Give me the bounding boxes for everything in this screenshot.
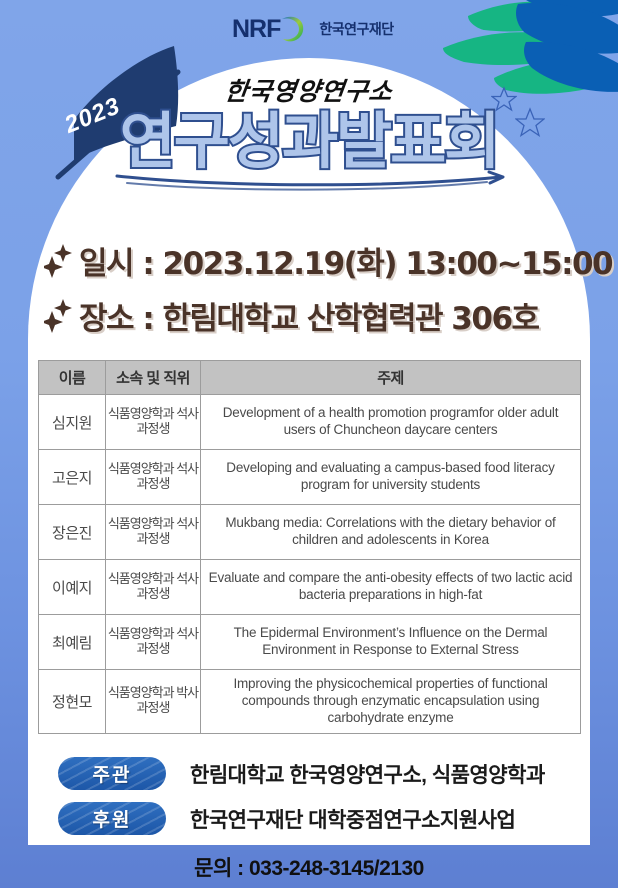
- badge-support-label: 후원: [93, 805, 132, 832]
- column-header-name: 이름: [39, 361, 106, 395]
- cell-affiliation: 식품영양학과 석사과정생: [106, 395, 201, 450]
- badge-host-label: 주관: [93, 760, 132, 787]
- sparkle-icon: [44, 298, 74, 334]
- cell-affiliation: 식품영양학과 석사과정생: [106, 505, 201, 560]
- column-header-topic: 주제: [201, 361, 581, 395]
- cell-affiliation: 식품영양학과 박사과정생: [106, 670, 201, 734]
- nrf-swoosh-icon: [274, 12, 308, 46]
- cell-topic: Development of a health promotion progra…: [201, 395, 581, 450]
- event-info-block: 일시 : 2023.12.19(화) 13:00~15:00 장소 : 한림대학…: [44, 238, 612, 348]
- organization-handwritten: 한국영양연구소: [223, 72, 395, 108]
- cell-topic: The Epidermal Environment’s Influence on…: [201, 615, 581, 670]
- sponsor-row-support: 후원 한국연구재단 대학중점연구소지원사업: [58, 802, 545, 835]
- cell-presenter-name: 정현모: [39, 670, 106, 734]
- sponsor-row-host: 주관 한림대학교 한국영양연구소, 식품영양학과: [58, 757, 545, 790]
- table-row: 고은지 식품영양학과 석사과정생 Developing and evaluati…: [39, 450, 581, 505]
- poster-root: NRF 한국연구재단 2023 한국영양연구소 연구성과발표회: [0, 0, 618, 888]
- cell-affiliation: 식품영양학과 석사과정생: [106, 560, 201, 615]
- table-row: 최예림 식품영양학과 석사과정생 The Epidermal Environme…: [39, 615, 581, 670]
- event-location-text: 장소 : 한림대학교 산학협력관 306호: [79, 293, 539, 338]
- table-row: 이예지 식품영양학과 석사과정생 Evaluate and compare th…: [39, 560, 581, 615]
- cell-topic: Evaluate and compare the anti-obesity ef…: [201, 560, 581, 615]
- cell-presenter-name: 이예지: [39, 560, 106, 615]
- cell-presenter-name: 장은진: [39, 505, 106, 560]
- event-datetime-text: 일시 : 2023.12.19(화) 13:00~15:00: [79, 238, 612, 283]
- program-table: 이름 소속 및 직위 주제 심지원 식품영양학과 석사과정생 Developme…: [38, 360, 581, 734]
- cell-topic: Mukbang media: Correlations with the die…: [201, 505, 581, 560]
- sponsor-host-name: 한림대학교 한국영양연구소, 식품영양학과: [190, 759, 545, 789]
- cell-affiliation: 식품영양학과 석사과정생: [106, 450, 201, 505]
- badge-support: 후원: [58, 802, 166, 835]
- sponsors-block: 주관 한림대학교 한국영양연구소, 식품영양학과 후원 한국연구재단 대학중점연…: [58, 757, 545, 847]
- cell-presenter-name: 심지원: [39, 395, 106, 450]
- cell-affiliation: 식품영양학과 석사과정생: [106, 615, 201, 670]
- nrf-logo: NRF 한국연구재단: [232, 12, 394, 46]
- table-header-row: 이름 소속 및 직위 주제: [39, 361, 581, 395]
- badge-host: 주관: [58, 757, 166, 790]
- headline-block: 한국영양연구소 연구성과발표회: [0, 72, 618, 192]
- table-row: 정현모 식품영양학과 박사과정생 Improving the physicoch…: [39, 670, 581, 734]
- table-row: 장은진 식품영양학과 석사과정생 Mukbang media: Correlat…: [39, 505, 581, 560]
- cell-presenter-name: 최예림: [39, 615, 106, 670]
- event-location-row: 장소 : 한림대학교 산학협력관 306호: [44, 293, 612, 338]
- cell-topic: Improving the physicochemical properties…: [201, 670, 581, 734]
- cell-presenter-name: 고은지: [39, 450, 106, 505]
- nrf-korean-name: 한국연구재단: [319, 19, 393, 39]
- contact-info: 문의 : 033-248-3145/2130: [0, 852, 618, 882]
- table-row: 심지원 식품영양학과 석사과정생 Development of a health…: [39, 395, 581, 450]
- event-datetime-row: 일시 : 2023.12.19(화) 13:00~15:00: [44, 238, 612, 283]
- sponsor-support-name: 한국연구재단 대학중점연구소지원사업: [190, 804, 515, 834]
- nrf-mark-text: NRF: [232, 15, 280, 44]
- nrf-mark-icon: NRF: [232, 12, 308, 46]
- sparkle-icon: [44, 243, 74, 279]
- column-header-affiliation: 소속 및 직위: [106, 361, 201, 395]
- cell-topic: Developing and evaluating a campus-based…: [201, 450, 581, 505]
- page-title: 연구성과발표회: [0, 110, 618, 174]
